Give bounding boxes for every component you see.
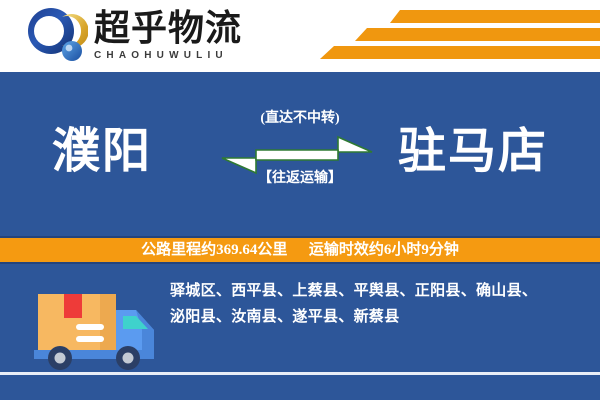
company-name-en: CHAOHUWULIU xyxy=(94,50,242,62)
coverage-section: 驿城区、西平县、上蔡县、平舆县、正阳县、确山县、 泌阳县、汝南县、遂平县、新蔡县 xyxy=(0,264,600,400)
round-trip-note: 【往返运输】 xyxy=(215,170,385,188)
bottom-divider xyxy=(0,372,600,375)
route-info-bar: 公路里程约369.64公里 运输时效约6小时9分钟 xyxy=(0,236,600,264)
company-logo: 超乎物流 CHAOHUWULIU xyxy=(26,7,242,65)
company-name-cn: 超乎物流 xyxy=(94,10,242,46)
route-row: 濮阳 (直达不中转) 【往返运输】 驻马店 xyxy=(0,72,600,236)
origin-city: 濮阳 xyxy=(52,124,152,180)
speed-stripes-icon xyxy=(310,8,600,66)
logistics-route-banner: 超乎物流 CHAOHUWULIU 濮阳 (直达不中转) xyxy=(0,0,600,400)
duration-text: 运输时效约6小时9分钟 xyxy=(309,242,459,258)
delivery-truck-icon xyxy=(24,276,160,377)
logo-text-block: 超乎物流 CHAOHUWULIU xyxy=(94,10,242,62)
banner-header: 超乎物流 CHAOHUWULIU xyxy=(0,0,600,72)
stripe-3 xyxy=(320,46,600,59)
destination-list-line-2: 泌阳县、汝南县、遂平县、新蔡县 xyxy=(170,304,582,330)
direct-service-note: (直达不中转) xyxy=(215,110,385,128)
info-bar-content: 公路里程约369.64公里 运输时效约6小时9分钟 xyxy=(141,241,459,259)
destination-county-list: 驿城区、西平县、上蔡县、平舆县、正阳县、确山县、 泌阳县、汝南县、遂平县、新蔡县 xyxy=(170,278,582,330)
route-section: 濮阳 (直达不中转) 【往返运输】 驻马店 xyxy=(0,72,600,236)
destination-city: 驻马店 xyxy=(398,124,548,180)
route-arrow-group: (直达不中转) 【往返运输】 xyxy=(215,110,385,210)
stripe-2 xyxy=(355,28,600,41)
stripe-1 xyxy=(390,10,600,23)
distance-text: 公路里程约369.64公里 xyxy=(141,242,287,258)
circle-crescent-logo-icon xyxy=(26,7,88,65)
destination-list-line-1: 驿城区、西平县、上蔡县、平舆县、正阳县、确山县、 xyxy=(170,278,582,304)
